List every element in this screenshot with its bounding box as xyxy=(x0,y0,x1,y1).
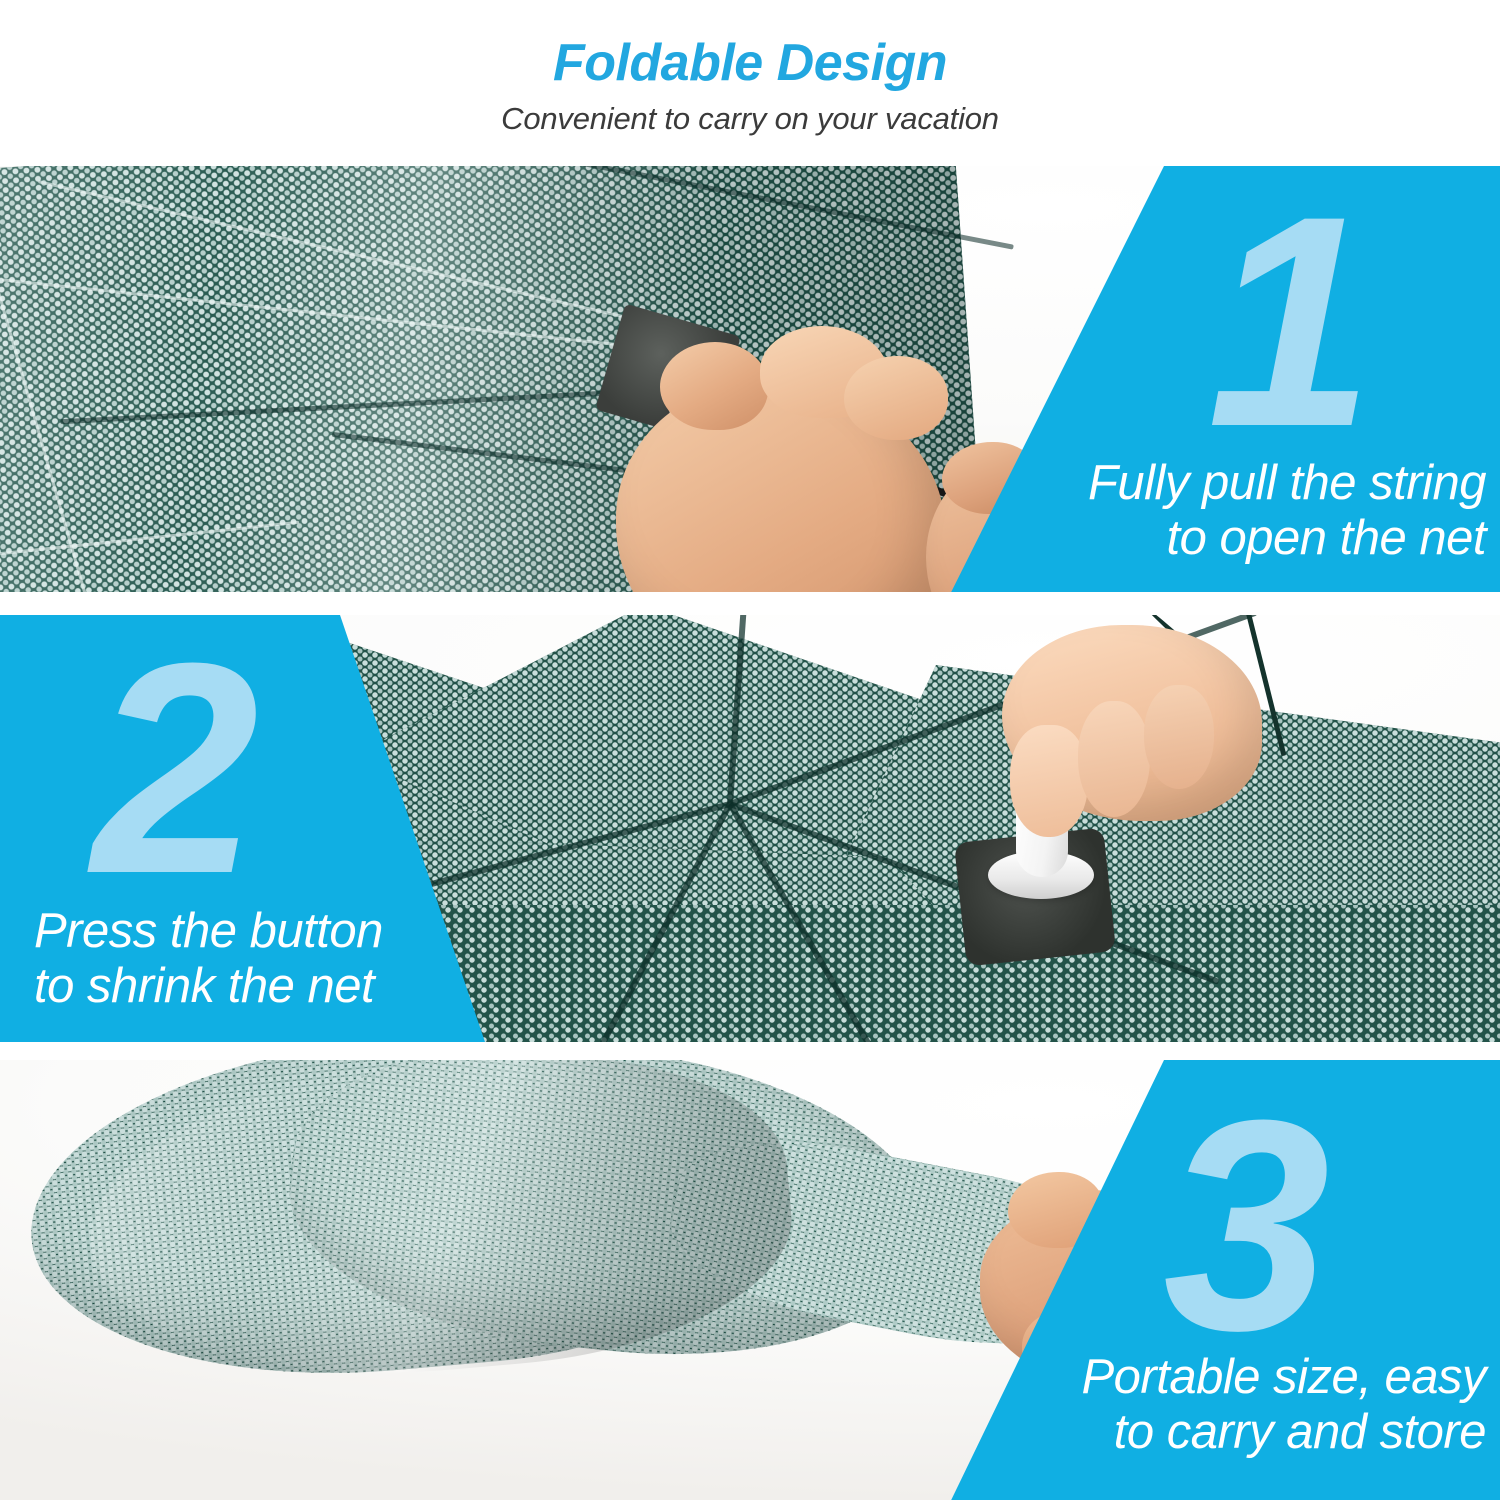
step-1-caption: Fully pull the string to open the net xyxy=(1088,456,1486,566)
index-finger xyxy=(1010,725,1088,837)
step-panel-1: 1 Fully pull the string to open the net xyxy=(0,166,1500,592)
step-panel-2: 2 Press the button to shrink the net xyxy=(0,615,1500,1042)
step-2-caption: Press the button to shrink the net xyxy=(34,904,383,1014)
middle-finger xyxy=(1078,701,1150,817)
ring-finger xyxy=(1144,685,1214,789)
umbrella-net-canopy xyxy=(330,615,1500,1042)
header: Foldable Design Convenient to carry on y… xyxy=(0,0,1500,166)
step-3-caption: Portable size, easy to carry and store xyxy=(1082,1350,1487,1460)
step-2-number: 2 xyxy=(92,639,253,897)
infographic-page: Foldable Design Convenient to carry on y… xyxy=(0,0,1500,1500)
page-title: Foldable Design xyxy=(553,36,947,91)
collapsed-net-bundle xyxy=(30,1060,1090,1470)
step-panel-3: 3 Portable size, easy to carry and store xyxy=(0,1060,1500,1500)
step-1-number: 1 xyxy=(1207,192,1368,450)
page-subtitle: Convenient to carry on your vacation xyxy=(501,101,999,137)
step-3-number: 3 xyxy=(1163,1096,1324,1354)
thumb xyxy=(660,342,768,430)
finger xyxy=(844,356,948,440)
